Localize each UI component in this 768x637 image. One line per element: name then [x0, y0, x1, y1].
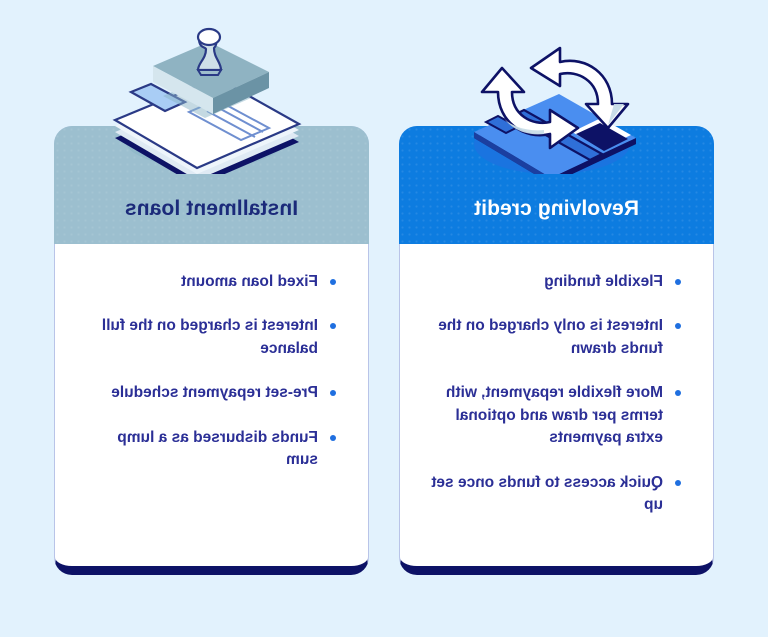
bullet-dot-icon [330, 435, 336, 441]
card-installment-loans: Installment loans Fixed loan amount Inte… [54, 126, 369, 575]
comparison-cards-container: Revolving credit Flexible funding Intere… [0, 0, 768, 637]
header-dot-pattern [399, 126, 714, 244]
list-item-text: Interest is charged on the full balance [102, 317, 318, 356]
bullet-dot-icon [330, 279, 336, 285]
list-item-text: More flexible repayment, with terms per … [446, 384, 663, 446]
list-item: Fixed loan amount [85, 271, 338, 293]
bullet-dot-icon [330, 390, 336, 396]
list-item: Flexible funding [430, 271, 683, 293]
list-item: Pre-set repayment schedule [85, 382, 338, 404]
card-body-revolving-credit: Flexible funding Interest is only charge… [400, 245, 713, 539]
bullet-dot-icon [675, 279, 681, 285]
infographic-canvas: Revolving credit Flexible funding Intere… [0, 0, 768, 637]
bullet-dot-icon [675, 480, 681, 486]
list-item-text: Quick access to funds once set up [431, 474, 663, 513]
list-item: Interest is charged on the full balance [85, 315, 338, 360]
bullet-dot-icon [675, 390, 681, 396]
list-item: Quick access to funds once set up [430, 472, 683, 517]
bullet-dot-icon [330, 323, 336, 329]
card-body-installment-loans: Fixed loan amount Interest is charged on… [55, 245, 368, 494]
list-item-text: Flexible funding [544, 273, 663, 290]
list-item-text: Fixed loan amount [181, 273, 318, 290]
header-dot-pattern [54, 126, 369, 244]
list-item-text: Funds disbursed as a lump sum [117, 429, 318, 468]
card-header-installment-loans [54, 126, 369, 244]
list-item: Funds disbursed as a lump sum [85, 427, 338, 472]
feature-list-installment-loans: Fixed loan amount Interest is charged on… [85, 271, 338, 472]
list-item-text: Pre-set repayment schedule [111, 384, 318, 401]
card-title-revolving-credit: Revolving credit [400, 197, 713, 221]
card-title-installment-loans: Installment loans [55, 197, 368, 221]
list-item: More flexible repayment, with terms per … [430, 382, 683, 449]
list-item: Interest is only charged on the funds dr… [430, 315, 683, 360]
feature-list-revolving-credit: Flexible funding Interest is only charge… [430, 271, 683, 517]
card-revolving-credit: Revolving credit Flexible funding Intere… [399, 126, 714, 575]
bullet-dot-icon [675, 323, 681, 329]
card-header-revolving-credit [399, 126, 714, 244]
list-item-text: Interest is only charged on the funds dr… [438, 317, 663, 356]
